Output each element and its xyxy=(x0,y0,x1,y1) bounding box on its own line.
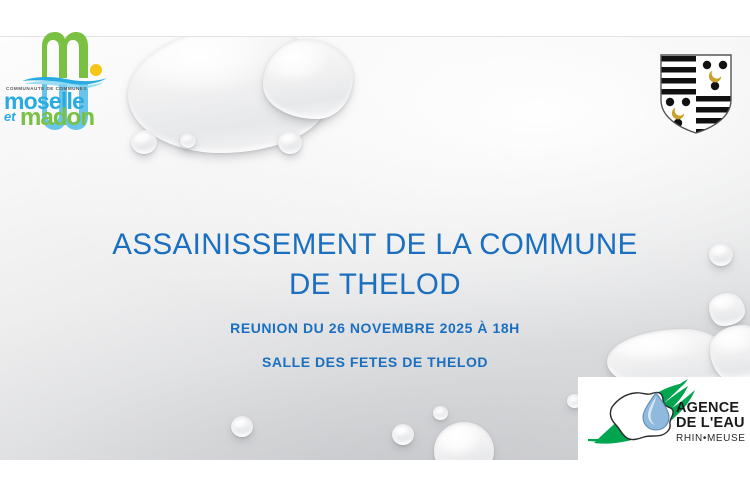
drop-small-a xyxy=(131,130,157,154)
drop-tiny-b xyxy=(180,133,196,148)
drop-medium-top-right xyxy=(263,39,353,119)
drop-large-center-h xyxy=(434,422,494,460)
blason-field xyxy=(657,52,735,136)
logo-word-et: et xyxy=(4,110,16,123)
logo-green-m-icon xyxy=(42,32,88,78)
slide-title-line-2: DE THELOD xyxy=(0,265,750,305)
drop-small-g xyxy=(392,424,414,445)
meeting-datetime-text: REUNION DU 26 NOVEMBRE 2025 À 18H xyxy=(0,320,750,337)
logo-word-madon: madon xyxy=(20,106,94,130)
agence-line-2: DE L'EAU xyxy=(676,416,746,431)
agence-line-1: AGENCE xyxy=(676,401,746,416)
drop-small-m xyxy=(231,416,253,437)
agence-de-leau-logo: AGENCE DE L'EAU RHIN•MEUSE xyxy=(578,377,750,460)
drop-tiny-f xyxy=(433,406,448,420)
agence-logo-text: AGENCE DE L'EAU RHIN•MEUSE xyxy=(676,401,746,444)
slide-title-block: ASSAINISSEMENT DE LA COMMUNE DE THELOD xyxy=(0,225,750,304)
blason-svg xyxy=(657,52,735,136)
blason-de-thelod xyxy=(657,52,735,134)
slide-title-line-1: ASSAINISSEMENT DE LA COMMUNE xyxy=(0,225,750,265)
drop-small-c xyxy=(278,131,302,154)
agence-line-3: RHIN•MEUSE xyxy=(676,433,746,444)
slide-subtitle-block: REUNION DU 26 NOVEMBRE 2025 À 18H SALLE … xyxy=(0,320,750,371)
slide-screenshot: ASSAINISSEMENT DE LA COMMUNE DE THELOD R… xyxy=(0,0,750,500)
moselle-et-madon-logo: communauté de communes moselle et madon xyxy=(4,22,114,134)
logo-yellow-dot-icon xyxy=(90,64,102,76)
meeting-venue-text: SALLE DES FETES DE THELOD xyxy=(0,354,750,371)
